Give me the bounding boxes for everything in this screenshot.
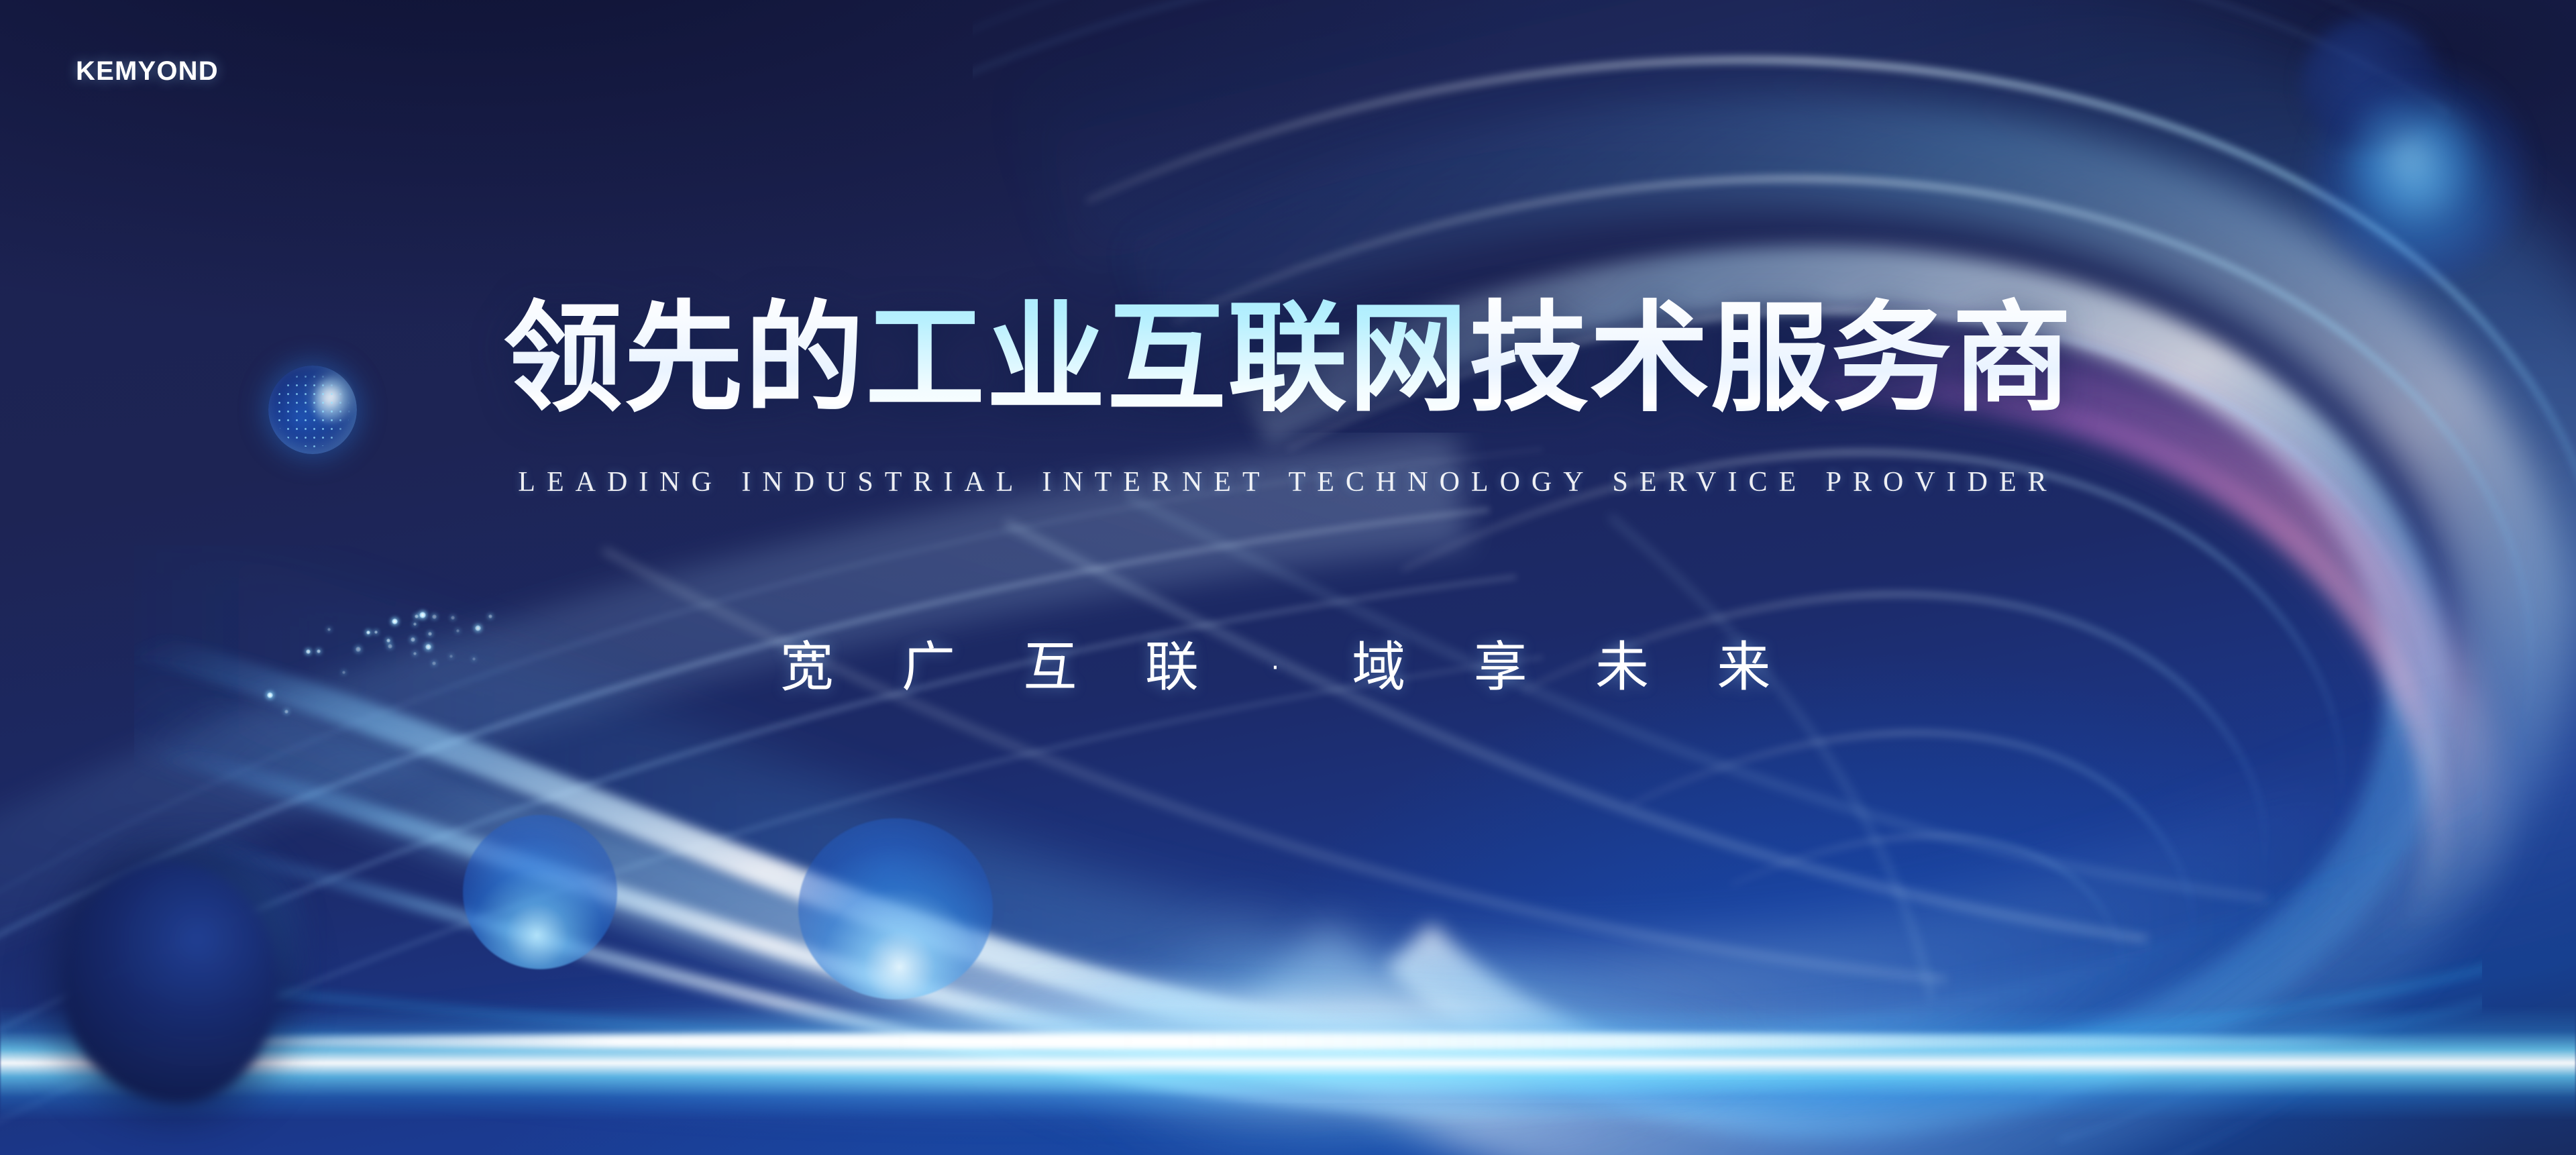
sphere-mid-left-icon — [463, 815, 617, 969]
page-title: 领先的工业互联网技术服务商 — [0, 288, 2576, 429]
dark-sphere-bottom-left-icon — [64, 862, 278, 1103]
beam-glow — [235, 952, 2180, 1154]
headline-segment-white-1: 领先的 — [503, 289, 865, 428]
brand-logo[interactable]: KEMYOND — [76, 56, 219, 87]
glow-orb-core-icon — [2348, 91, 2475, 218]
headline-segment-white-2: 技术服务商 — [1469, 289, 2073, 428]
banner-canvas: KEMYOND 领先的工业互联网技术服务商 LEADING INDUSTRIAL… — [0, 0, 2576, 1155]
headline-segment-cyan: 工业互联网 — [865, 289, 1469, 428]
tagline: 宽 广 互 联 · 域 享 未 来 — [0, 624, 2576, 702]
sphere-mid-center-icon — [798, 818, 993, 999]
dark-orb-top-right-icon — [2301, 17, 2442, 151]
pink-accent-ribbon — [1811, 80, 2576, 1087]
horizontal-light-beam — [0, 1006, 2576, 1120]
central-light-burst — [771, 791, 2046, 1155]
top-vignette — [0, 0, 2576, 1155]
beam-core-highlight — [101, 1033, 2449, 1050]
glow-orb-top-right-icon — [2308, 60, 2529, 282]
subtitle-english: LEADING INDUSTRIAL INTERNET TECHNOLOGY S… — [0, 466, 2576, 498]
center-light-ribbons — [134, 470, 2482, 1155]
vortex-ribbons — [973, 0, 2576, 1155]
dark-sphere-glow — [101, 838, 295, 986]
